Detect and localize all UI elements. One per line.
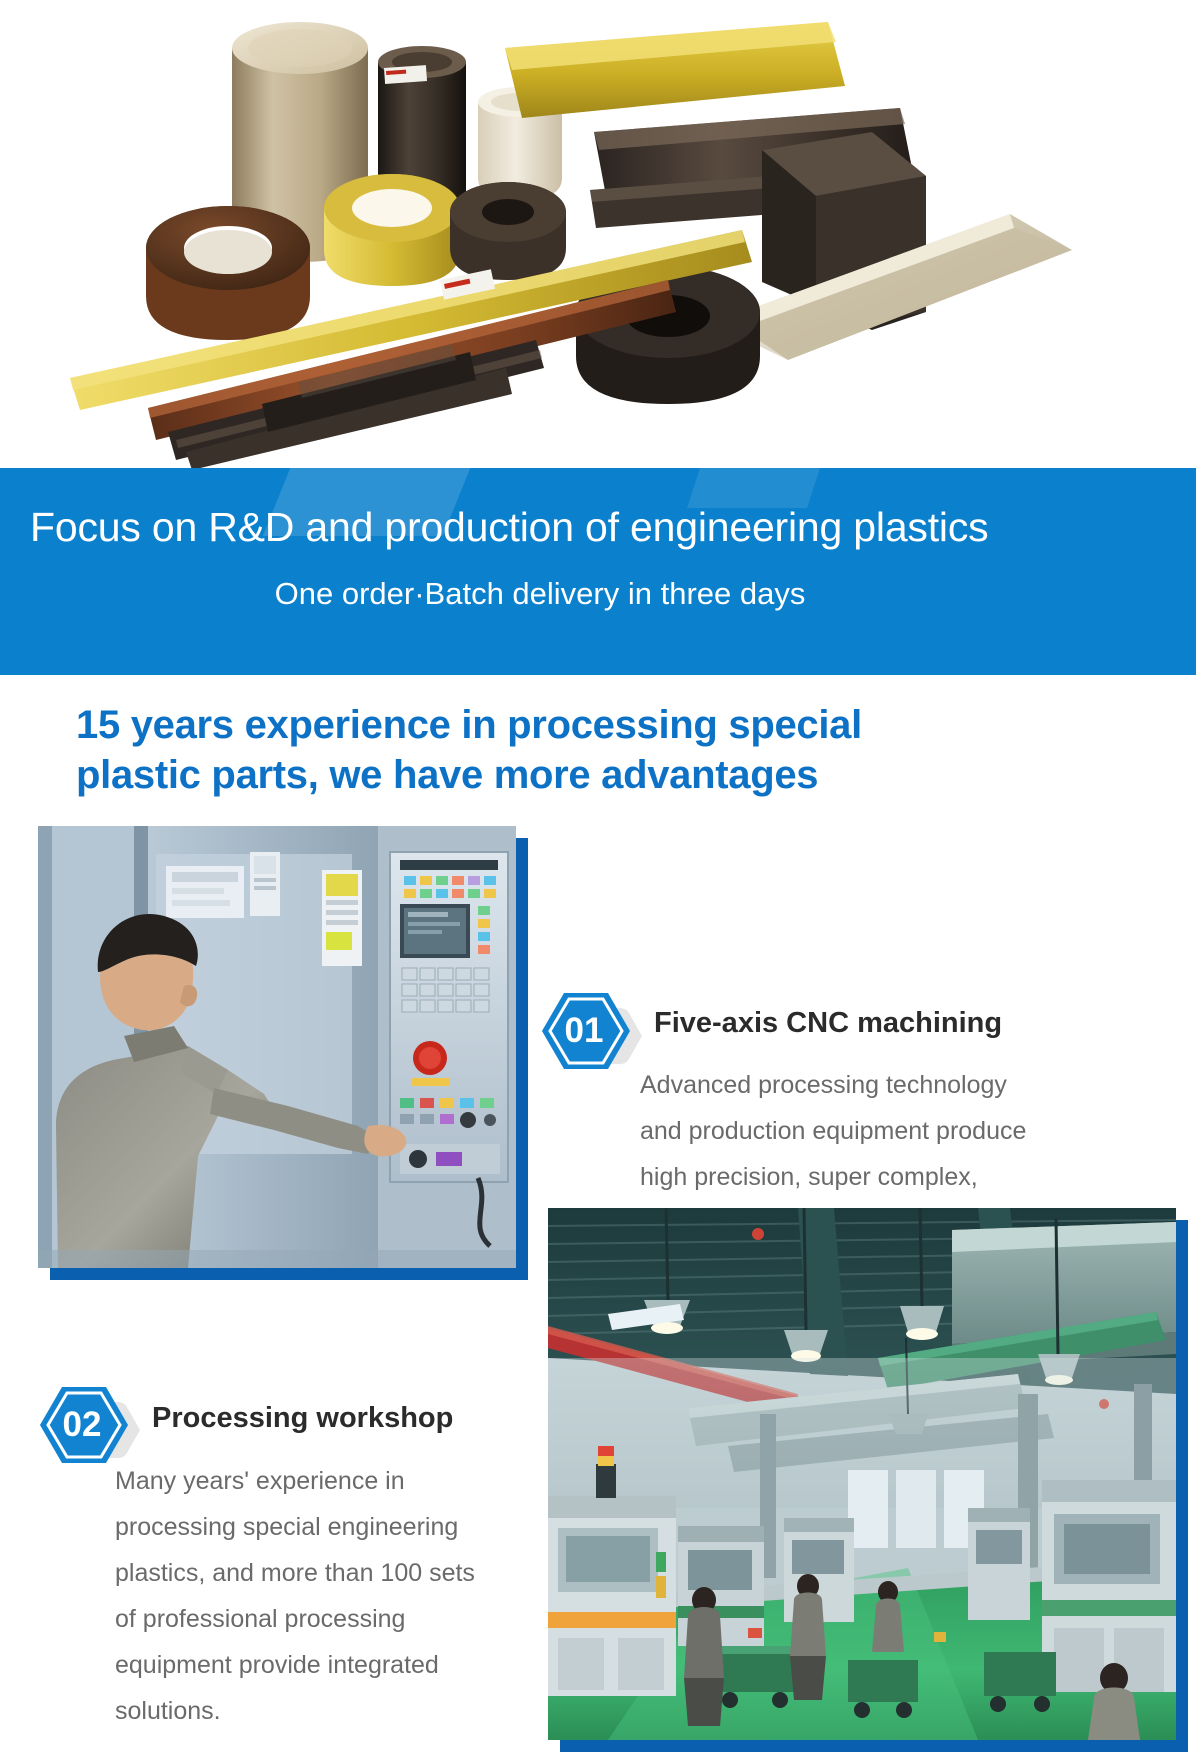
hero-illustration: [0, 0, 1200, 470]
feature-02-body-line-2: processing special engineering: [115, 1504, 535, 1550]
hero-product-image: [0, 0, 1200, 470]
banner-title: Focus on R&D and production of engineeri…: [30, 504, 1160, 551]
feature-02-photo: [548, 1208, 1176, 1740]
banner-subtitle: One order·Batch delivery in three days: [0, 576, 1080, 612]
feature-01-badge-number: 01: [538, 988, 630, 1074]
feature-02-body-line-4: of professional processing: [115, 1596, 535, 1642]
product-landing-page: Focus on R&D and production of engineeri…: [0, 0, 1200, 1752]
headline-line-1: 15 years experience in processing specia…: [76, 700, 1106, 750]
feature-02-title: Processing workshop: [152, 1402, 453, 1435]
feature-01-title: Five-axis CNC machining: [654, 1007, 1002, 1040]
feature-02-body: Many years' experience in processing spe…: [115, 1458, 535, 1734]
feature-02-image-frame: [548, 1208, 1188, 1752]
feature-01-body-line-1: Advanced processing technology: [640, 1062, 1090, 1108]
feature-01-body-line-2: and production equipment produce: [640, 1108, 1090, 1154]
feature-02-badge: 02: [36, 1382, 140, 1468]
cnc-operator-illustration: [38, 826, 516, 1268]
section-headline: 15 years experience in processing specia…: [76, 700, 1106, 800]
feature-01-photo: [38, 826, 516, 1268]
feature-02-body-line-3: plastics, and more than 100 sets: [115, 1550, 535, 1596]
workshop-illustration: [548, 1208, 1176, 1740]
feature-02-body-line-1: Many years' experience in: [115, 1458, 535, 1504]
feature-02-badge-number: 02: [36, 1382, 128, 1468]
tagline-banner: Focus on R&D and production of engineeri…: [0, 468, 1196, 675]
feature-01-body-line-3: high precision, super complex,: [640, 1154, 1090, 1200]
banner-decor-shape-2: [687, 468, 833, 508]
feature-01-image-frame: [38, 826, 528, 1280]
feature-02-body-line-5: equipment provide integrated: [115, 1642, 535, 1688]
headline-line-2: plastic parts, we have more advantages: [76, 750, 1106, 800]
feature-01-badge: 01: [538, 988, 642, 1074]
feature-02-body-line-6: solutions.: [115, 1688, 535, 1734]
